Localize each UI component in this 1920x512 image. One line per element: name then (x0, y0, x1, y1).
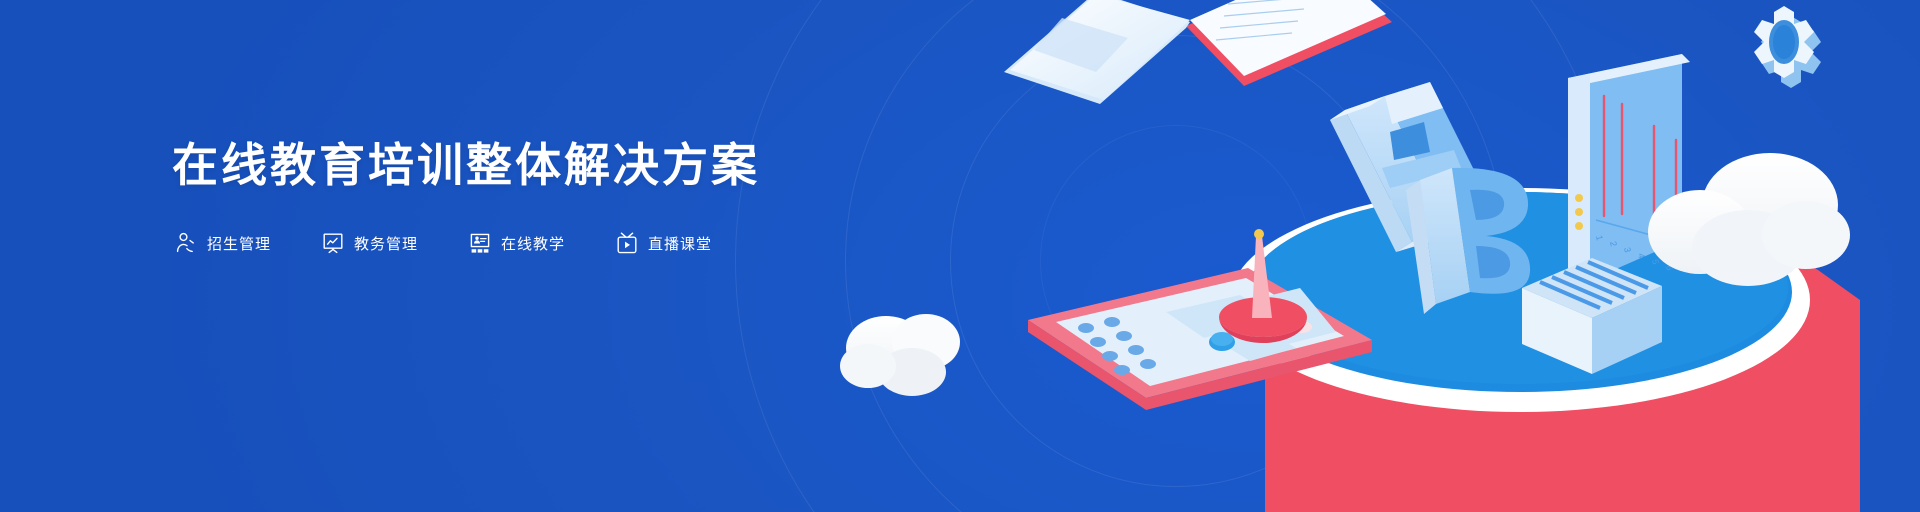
feature-item-online-teaching[interactable]: 在线教学 (468, 231, 565, 255)
online-teaching-whiteboard-icon (468, 231, 492, 255)
feature-label: 直播课堂 (648, 233, 712, 254)
banner-background (0, 0, 1920, 512)
education-hero-banner: 1 2 3 4 5 6 (0, 0, 1920, 512)
page-title: 在线教育培训整体解决方案 (172, 138, 932, 193)
live-classroom-tv-play-icon (615, 231, 639, 255)
student-enrollment-icon (174, 231, 198, 255)
feature-label: 招生管理 (207, 233, 271, 254)
banner-text-block: 在线教育培训整体解决方案 招生管理 (172, 138, 932, 255)
feature-label: 在线教学 (501, 233, 565, 254)
feature-item-enrollment[interactable]: 招生管理 (174, 231, 271, 255)
feature-item-live-classroom[interactable]: 直播课堂 (615, 231, 712, 255)
feature-label: 教务管理 (354, 233, 418, 254)
feature-list: 招生管理 教务管理 (174, 231, 932, 255)
feature-item-academic-affairs[interactable]: 教务管理 (321, 231, 418, 255)
academic-affairs-chart-icon (321, 231, 345, 255)
